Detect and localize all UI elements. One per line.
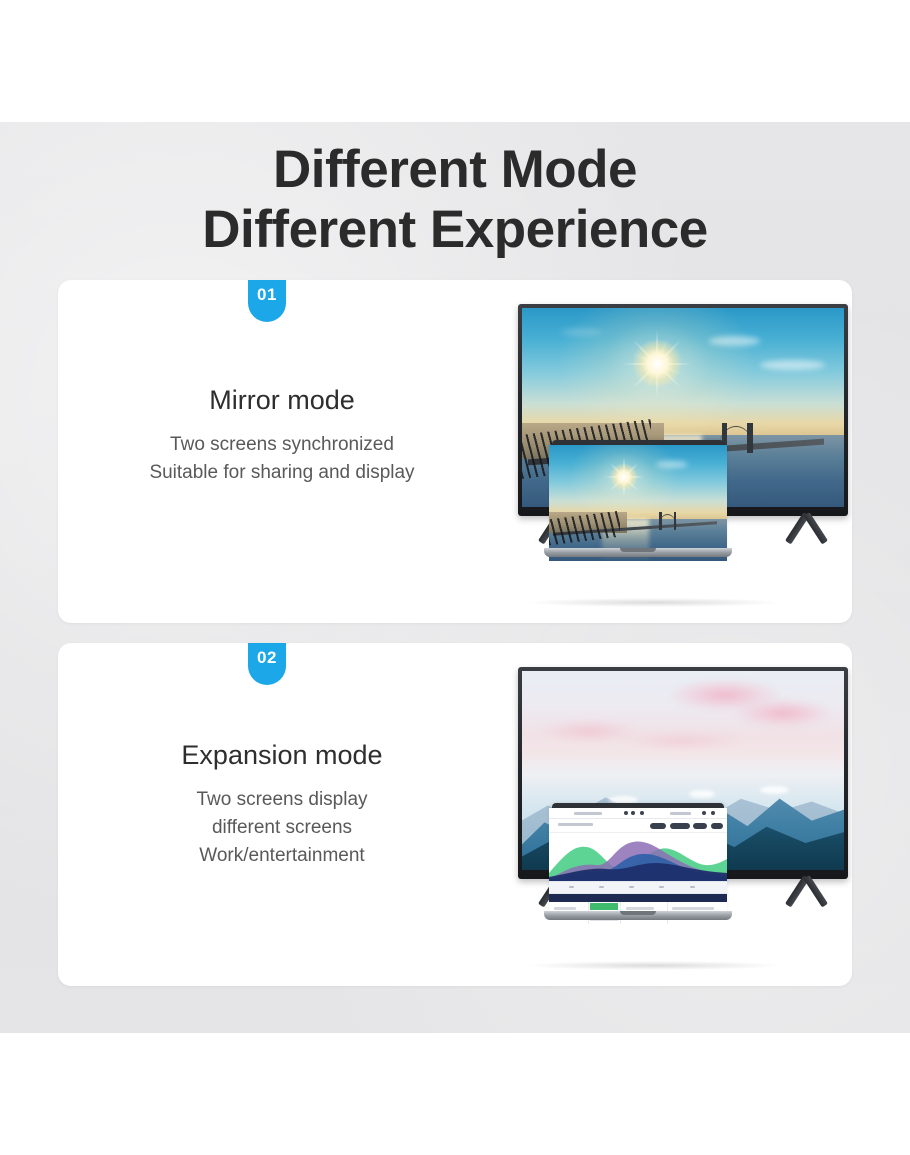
mode-card-expansion[interactable]: 02 Expansion mode Two screens display di… [58,643,852,986]
sun-icon [631,340,683,388]
scene-sunset-bridge-mirrored [549,445,727,561]
page-root: Different Mode Different Experience 01 M… [0,0,910,1155]
mode-desc-expansion-line-1: Two screens display [82,786,482,814]
toolbar-button[interactable] [650,823,666,829]
area-chart-svg [549,833,727,881]
mode-card-expansion-text: Expansion mode Two screens display diffe… [82,738,482,870]
mirror-mode-illustration [456,280,852,623]
mode-desc-expansion-line-3: Work/entertainment [82,842,482,870]
mode-desc-mirror-line-2: Suitable for sharing and display [82,459,482,487]
page-title: Different Mode Different Experience [0,140,910,260]
axis-tick [569,886,574,888]
topbar-dot-icon [624,811,628,815]
topbar-dot-icon [640,811,644,815]
dashboard-toolbar[interactable] [549,819,727,833]
device-floor-shadow [527,598,780,607]
axis-tick [629,886,634,888]
snow-cap [760,786,789,794]
bridge-pylon [674,512,677,529]
axis-tick [599,886,604,888]
bridge-pylon [659,512,662,529]
topbar-label-placeholder [574,812,602,815]
toolbar-button[interactable] [711,823,723,829]
dashboard-area-chart [549,833,727,881]
dashboard-chart-axis [549,881,727,894]
table-cell [626,907,654,910]
topbar-dot-icon [702,811,706,815]
mode-card-mirror-text: Mirror mode Two screens synchronized Sui… [82,383,482,487]
topbar-dot-icon [711,811,715,815]
toolbar-button[interactable] [670,823,690,829]
card-badge-01: 01 [248,280,286,322]
analytics-dashboard [549,808,727,924]
laptop-screen-sunset-bridge [549,445,727,561]
page-title-line-2: Different Experience [0,200,910,260]
snow-cap [689,790,715,798]
axis-tick [659,886,664,888]
dashboard-topbar [549,808,727,819]
mode-desc-mirror: Two screens synchronized Suitable for sh… [82,431,482,487]
mode-desc-expansion: Two screens display different screens Wo… [82,786,482,870]
axis-tick [690,886,695,888]
laptop-trackpad-notch [620,911,656,915]
card-badge-01-label: 01 [248,280,286,310]
sun-icon [610,464,638,492]
page-title-line-1: Different Mode [0,140,910,200]
table-cell-highlight [590,903,618,910]
laptop-screen-dashboard [549,808,727,924]
toolbar-button[interactable] [693,823,707,829]
laptop-expansion [544,803,732,931]
laptop-mirror [544,440,732,568]
card-badge-02-label: 02 [248,643,286,673]
cloud-icon [619,731,748,751]
cloud-icon [760,360,824,370]
dashboard-navy-divider [549,894,727,902]
cloud-icon [735,699,832,727]
tv-leg [804,512,828,544]
bridge-pylon [747,423,752,453]
expansion-mode-illustration [456,643,852,986]
topbar-label-placeholder [670,812,691,815]
topbar-dot-icon [631,811,635,815]
tv-leg [804,875,828,907]
table-cell [554,907,576,910]
table-cell [672,907,714,910]
mode-card-mirror[interactable]: 01 Mirror mode Two screens synchronized … [58,280,852,623]
card-badge-02: 02 [248,643,286,685]
mode-title-expansion: Expansion mode [82,738,482,772]
device-floor-shadow [527,961,780,970]
laptop-trackpad-notch [620,548,656,552]
mode-desc-mirror-line-1: Two screens synchronized [82,431,482,459]
mode-desc-expansion-line-2: different screens [82,814,482,842]
mode-title-mirror: Mirror mode [82,383,482,417]
toolbar-label-placeholder [558,823,594,826]
